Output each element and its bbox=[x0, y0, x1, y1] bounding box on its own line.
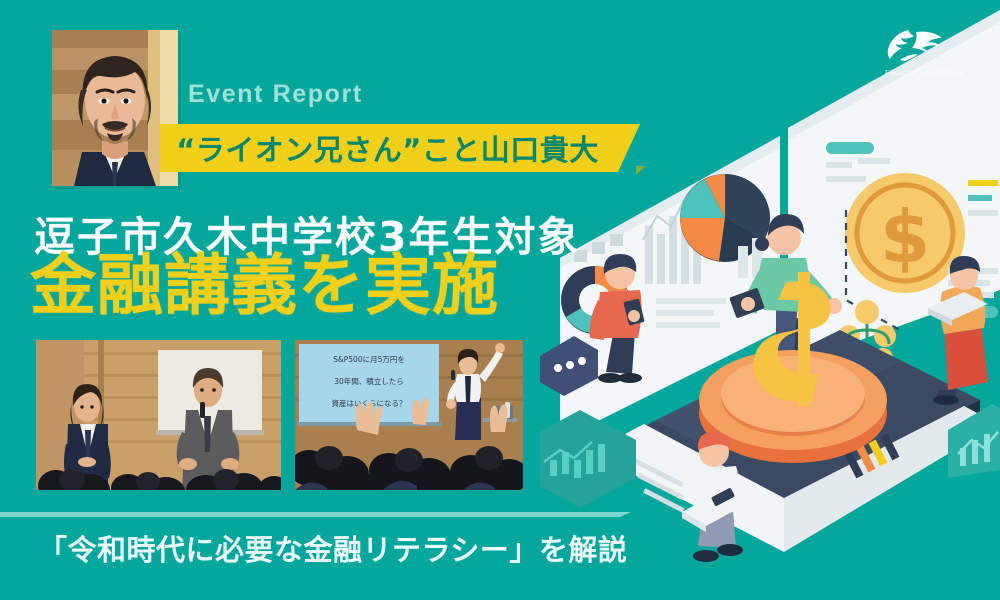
speaker-name-text: “ライオン兄さん”こと山口貴大 bbox=[160, 124, 615, 172]
speaker-name-ribbon: “ライオン兄さん”こと山口貴大 bbox=[160, 124, 640, 172]
speaker-portrait-photo bbox=[52, 30, 178, 186]
photo-lecture-students: S&P500に月5万円を 30年間、積立したら 資産はいくらになる？ bbox=[295, 340, 523, 490]
brand-logo: Financial Free College bbox=[864, 26, 984, 84]
dollar-coin: $ bbox=[845, 173, 965, 293]
isometric-finance-illustration: $ bbox=[540, 0, 1000, 600]
headline-line-2: 金融講義を実施 bbox=[30, 253, 499, 319]
event-report-banner: $ bbox=[0, 0, 1000, 600]
footer-text: 「令和時代に必要な金融リテラシー」を解説 bbox=[38, 527, 627, 569]
svg-text:S&P500に月5万円を: S&P500に月5万円を bbox=[333, 355, 405, 364]
eyebrow-label: Event Report bbox=[188, 80, 363, 109]
footer-divider bbox=[0, 512, 620, 517]
feather-wing-logo-icon bbox=[864, 26, 984, 62]
logo-name: Financial Free College bbox=[864, 68, 984, 77]
photo-assembly-introduction bbox=[36, 340, 281, 490]
svg-text:30年間、積立したら: 30年間、積立したら bbox=[334, 376, 404, 386]
svg-text:$: $ bbox=[880, 195, 930, 279]
